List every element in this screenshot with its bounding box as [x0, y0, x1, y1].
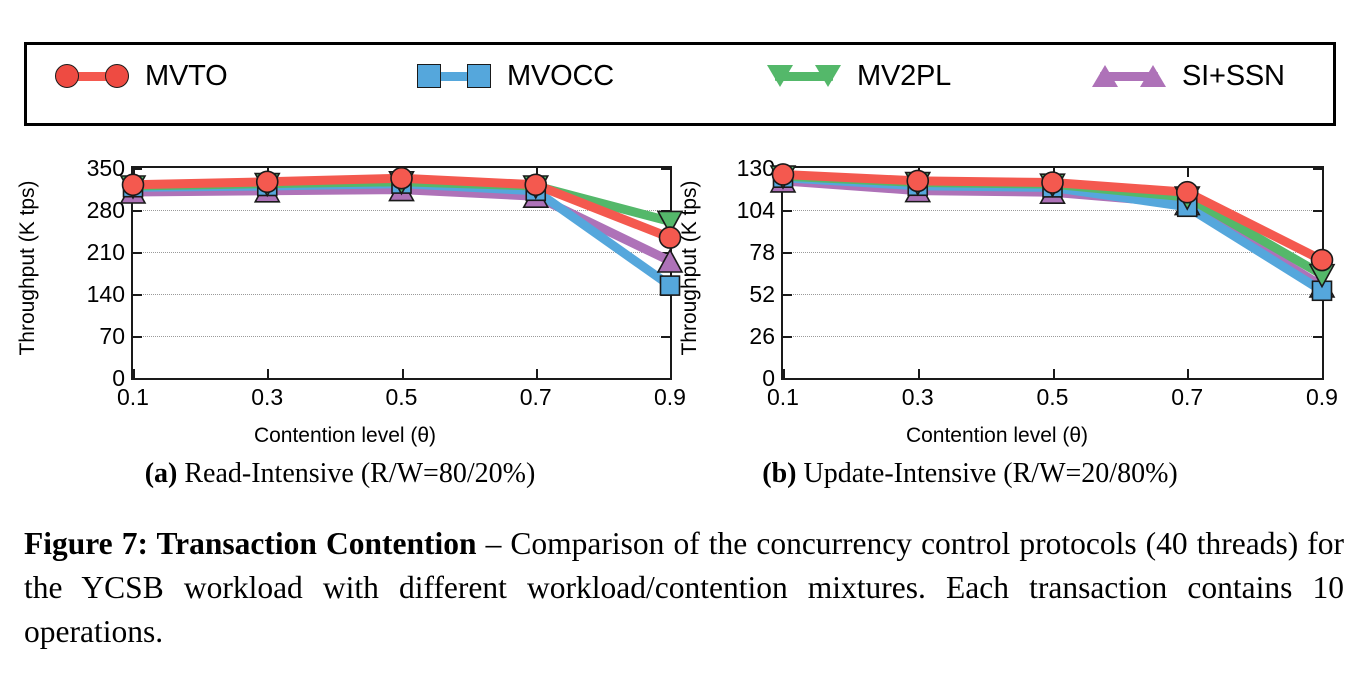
x-axis-label-a: Contention level (θ): [65, 424, 625, 448]
data-point-mvto: [123, 174, 144, 195]
figure-caption: Figure 7: Transaction Contention – Compa…: [24, 522, 1344, 654]
data-point-si-ssn: [524, 185, 548, 207]
series-line-mvto: [133, 178, 670, 237]
y-tick-mark: [783, 294, 792, 296]
y-tick-mark: [1313, 168, 1322, 170]
x-tick-mark: [1322, 369, 1324, 378]
legend-square-icon: [417, 64, 441, 88]
y-tick-label: 70: [45, 325, 125, 348]
legend-triangle-up-icon: [1140, 65, 1166, 87]
y-tick-mark: [133, 252, 142, 254]
legend-circle-icon: [105, 64, 129, 88]
x-tick-mark-top: [1322, 168, 1324, 177]
data-point-mv2pl: [1041, 174, 1065, 196]
x-tick-mark-top: [918, 168, 920, 177]
x-tick-mark: [918, 369, 920, 378]
y-tick-mark: [661, 168, 670, 170]
subcaption-b-text: Update-Intensive (R/W=20/80%): [796, 458, 1177, 489]
gridline: [783, 294, 1322, 295]
legend-label: MVTO: [145, 62, 227, 91]
y-tick-mark: [133, 378, 142, 380]
x-tick-label: 0.7: [491, 386, 581, 409]
series-line-mv2pl: [133, 182, 670, 222]
legend-triangle-down-icon: [815, 65, 841, 87]
legend-circle-icon: [55, 64, 79, 88]
series-line-si-ssn: [133, 190, 670, 261]
y-tick-mark: [661, 210, 670, 212]
y-tick-mark: [1313, 252, 1322, 254]
legend-label: MV2PL: [857, 62, 951, 91]
x-axis-label-b: Contention level (θ): [717, 424, 1277, 448]
y-tick-mark: [783, 378, 792, 380]
x-tick-label: 0.3: [873, 386, 963, 409]
series-line-mvocc: [783, 178, 1322, 291]
subcaption-b-prefix: (b): [762, 458, 796, 489]
x-tick-mark: [536, 369, 538, 378]
figure-root: MVTOMVOCCMV2PLSI+SSN Throughput (K tps) …: [0, 0, 1366, 696]
legend-label: MVOCC: [507, 62, 614, 91]
series-line-mv2pl: [783, 176, 1322, 275]
chart-update-intensive: Throughput (K tps) 02652781041300.10.30.…: [672, 148, 1332, 448]
x-tick-label: 0.3: [222, 386, 312, 409]
legend-marker-circle-icon: [55, 59, 129, 93]
gridline: [783, 252, 1322, 253]
y-tick-mark: [133, 210, 142, 212]
y-axis-label-a: Throughput (K tps): [16, 0, 46, 148]
y-tick-label: 26: [695, 325, 775, 348]
data-point-mvocc: [526, 181, 545, 200]
y-tick-label: 130: [695, 157, 775, 180]
gridline: [783, 336, 1322, 337]
subcaption-b: (b) Update-Intensive (R/W=20/80%): [690, 458, 1250, 490]
data-point-mvocc: [1178, 197, 1197, 216]
legend-triangle-down-icon: [767, 65, 793, 87]
legend-label: SI+SSN: [1182, 62, 1285, 91]
gridline: [133, 294, 670, 295]
legend-marker-triangle-up-icon: [1092, 59, 1166, 93]
data-point-mvocc: [908, 176, 927, 195]
y-tick-label: 78: [695, 241, 775, 264]
y-tick-mark: [783, 336, 792, 338]
legend-item-mvto: MVTO: [55, 59, 227, 93]
legend-item-si-ssn: SI+SSN: [1092, 59, 1285, 93]
gridline: [133, 210, 670, 211]
y-tick-mark: [661, 336, 670, 338]
y-tick-mark: [661, 252, 670, 254]
y-tick-label: 104: [695, 199, 775, 222]
x-tick-mark-top: [133, 168, 135, 177]
y-tick-mark: [1313, 294, 1322, 296]
data-point-mvto: [525, 174, 546, 195]
x-tick-label: 0.1: [738, 386, 828, 409]
data-point-si-ssn: [390, 179, 414, 201]
plot-area-b: 02652781041300.10.30.50.70.9: [781, 166, 1324, 380]
x-tick-mark: [783, 369, 785, 378]
gridline: [133, 252, 670, 253]
series-layer: [133, 168, 670, 378]
x-tick-label: 0.7: [1142, 386, 1232, 409]
subcaption-a-prefix: (a): [145, 458, 178, 489]
plot-area-a: 0701402102803500.10.30.50.70.9: [131, 166, 672, 380]
y-tick-mark: [661, 378, 670, 380]
data-point-mvocc: [1313, 281, 1332, 300]
y-tick-label: 280: [45, 199, 125, 222]
x-tick-label: 0.1: [88, 386, 178, 409]
data-point-si-ssn: [1175, 193, 1199, 215]
y-tick-mark: [783, 252, 792, 254]
legend-item-mv2pl: MV2PL: [767, 59, 951, 93]
legend-item-mvocc: MVOCC: [417, 59, 614, 93]
x-tick-mark-top: [402, 168, 404, 177]
subcaption-a: (a) Read-Intensive (R/W=80/20%): [60, 458, 620, 490]
data-point-mv2pl: [1310, 265, 1334, 287]
x-tick-mark-top: [1187, 168, 1189, 177]
y-tick-mark: [661, 294, 670, 296]
legend-square-icon: [467, 64, 491, 88]
y-tick-mark: [1313, 210, 1322, 212]
legend-marker-square-icon: [417, 59, 491, 93]
legend-triangle-up-icon: [1092, 65, 1118, 87]
x-tick-mark: [1187, 369, 1189, 378]
x-tick-mark-top: [1053, 168, 1055, 177]
y-axis-label-b: Throughput (K tps): [678, 0, 708, 148]
y-tick-label: 52: [695, 283, 775, 306]
series-line-mvocc: [133, 184, 670, 286]
y-tick-mark: [133, 336, 142, 338]
data-point-mvocc: [1043, 178, 1062, 197]
chart-read-intensive: Throughput (K tps) 0701402102803500.10.3…: [10, 148, 670, 448]
data-point-si-ssn: [906, 180, 930, 202]
series-line-mvto: [783, 174, 1322, 260]
series-layer: [783, 168, 1322, 378]
y-tick-mark: [1313, 336, 1322, 338]
gridline: [783, 210, 1322, 211]
data-point-si-ssn: [1041, 181, 1065, 203]
data-point-mv2pl: [1175, 187, 1199, 209]
x-tick-mark: [1053, 369, 1055, 378]
y-tick-label: 140: [45, 283, 125, 306]
y-tick-mark: [1313, 378, 1322, 380]
y-tick-mark: [133, 294, 142, 296]
x-tick-mark-top: [783, 168, 785, 177]
x-tick-mark: [267, 369, 269, 378]
x-tick-label: 0.9: [1277, 386, 1366, 409]
x-tick-mark-top: [267, 168, 269, 177]
data-point-si-ssn: [255, 180, 279, 202]
series-line-si-ssn: [783, 181, 1322, 286]
data-point-mvocc: [124, 178, 143, 197]
y-tick-label: 350: [45, 157, 125, 180]
legend-marker-triangle-down-icon: [767, 59, 841, 93]
figure-caption-title: Figure 7: Transaction Contention: [24, 526, 477, 561]
x-tick-mark-top: [536, 168, 538, 177]
subcaption-a-text: Read-Intensive (R/W=80/20%): [177, 458, 535, 489]
x-tick-label: 0.5: [1008, 386, 1098, 409]
y-tick-mark: [783, 210, 792, 212]
data-point-mvto: [1177, 182, 1198, 203]
x-tick-mark: [402, 369, 404, 378]
x-tick-label: 0.5: [357, 386, 447, 409]
y-tick-label: 210: [45, 241, 125, 264]
data-point-mvocc: [258, 177, 277, 196]
x-tick-mark: [133, 369, 135, 378]
gridline: [133, 336, 670, 337]
data-point-mv2pl: [524, 176, 548, 198]
